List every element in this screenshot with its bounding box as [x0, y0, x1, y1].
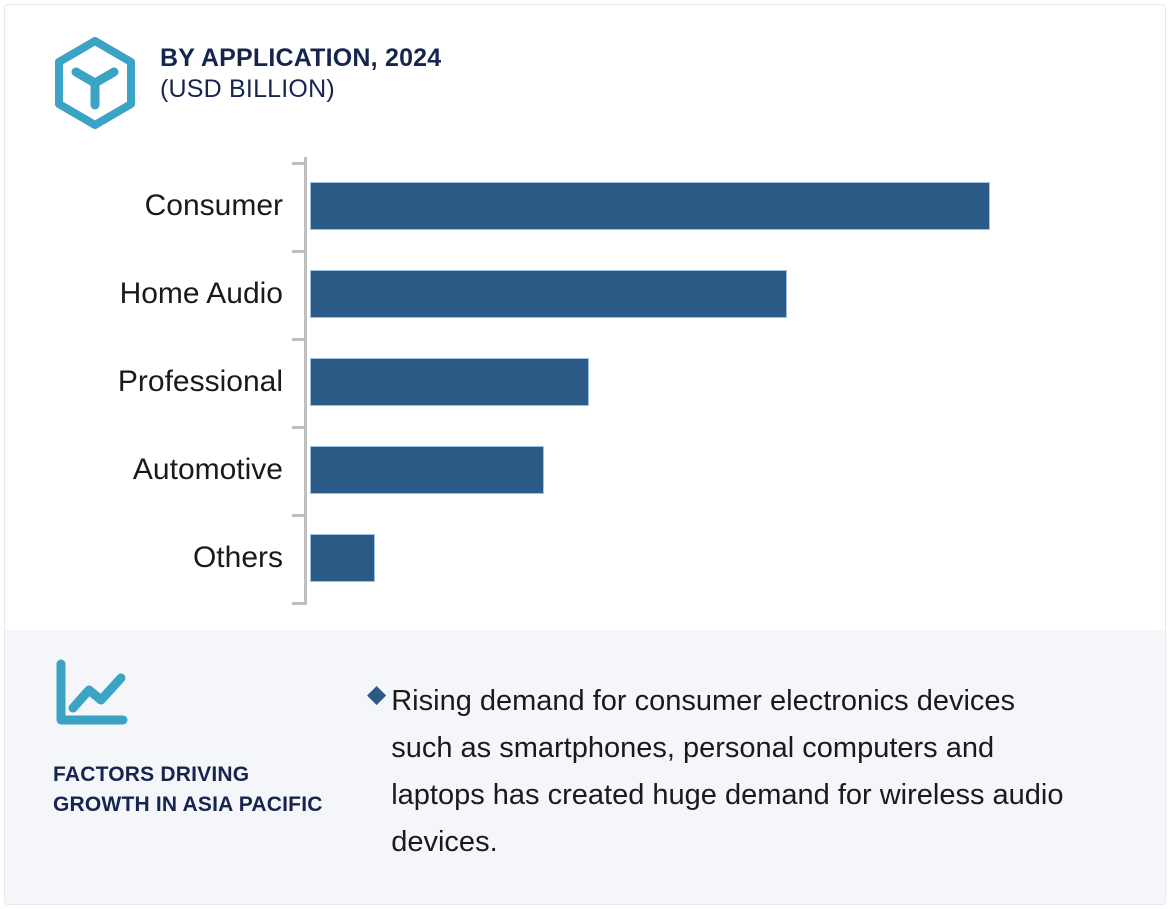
- axis-tick: [292, 514, 306, 517]
- chart-plot-area: ConsumerHome AudioProfessionalAutomotive…: [5, 135, 1166, 630]
- category-label-professional: Professional: [118, 365, 283, 399]
- line-chart-icon: [53, 658, 129, 730]
- title-primary: BY APPLICATION, 2024: [160, 43, 441, 74]
- axis-tick: [292, 426, 306, 429]
- factor-text: Rising demand for consumer electronics d…: [391, 678, 1067, 866]
- category-label-automotive: Automotive: [133, 453, 283, 487]
- page-title: BY APPLICATION, 2024 (USD BILLION): [160, 43, 441, 104]
- axis-tick: [292, 250, 306, 253]
- header: BY APPLICATION, 2024 (USD BILLION): [5, 5, 1165, 135]
- infographic-card: BY APPLICATION, 2024 (USD BILLION) Consu…: [4, 4, 1166, 905]
- axis-tick: [292, 602, 306, 605]
- bar-others: [310, 534, 375, 582]
- title-units: (USD BILLION): [160, 74, 441, 105]
- category-label-others: Others: [193, 541, 283, 575]
- bar-professional: [310, 358, 589, 406]
- factors-title: FACTORS DRIVING GROWTH IN ASIA PACIFIC: [53, 760, 343, 820]
- factor-list-item: ◆ Rising demand for consumer electronics…: [367, 678, 1067, 866]
- bar-consumer: [310, 182, 990, 230]
- factors-panel: FACTORS DRIVING GROWTH IN ASIA PACIFIC ◆…: [5, 630, 1166, 905]
- diamond-bullet-icon: ◆: [367, 678, 386, 712]
- bar-home-audio: [310, 270, 787, 318]
- axis-tick: [292, 338, 306, 341]
- category-label-consumer: Consumer: [145, 189, 283, 223]
- category-label-home-audio: Home Audio: [120, 277, 283, 311]
- bar-automotive: [310, 446, 544, 494]
- bar-chart: ConsumerHome AudioProfessionalAutomotive…: [5, 135, 1166, 630]
- y-axis-line: [304, 157, 307, 605]
- axis-tick: [292, 162, 306, 165]
- hexagon-y-icon: [51, 37, 139, 129]
